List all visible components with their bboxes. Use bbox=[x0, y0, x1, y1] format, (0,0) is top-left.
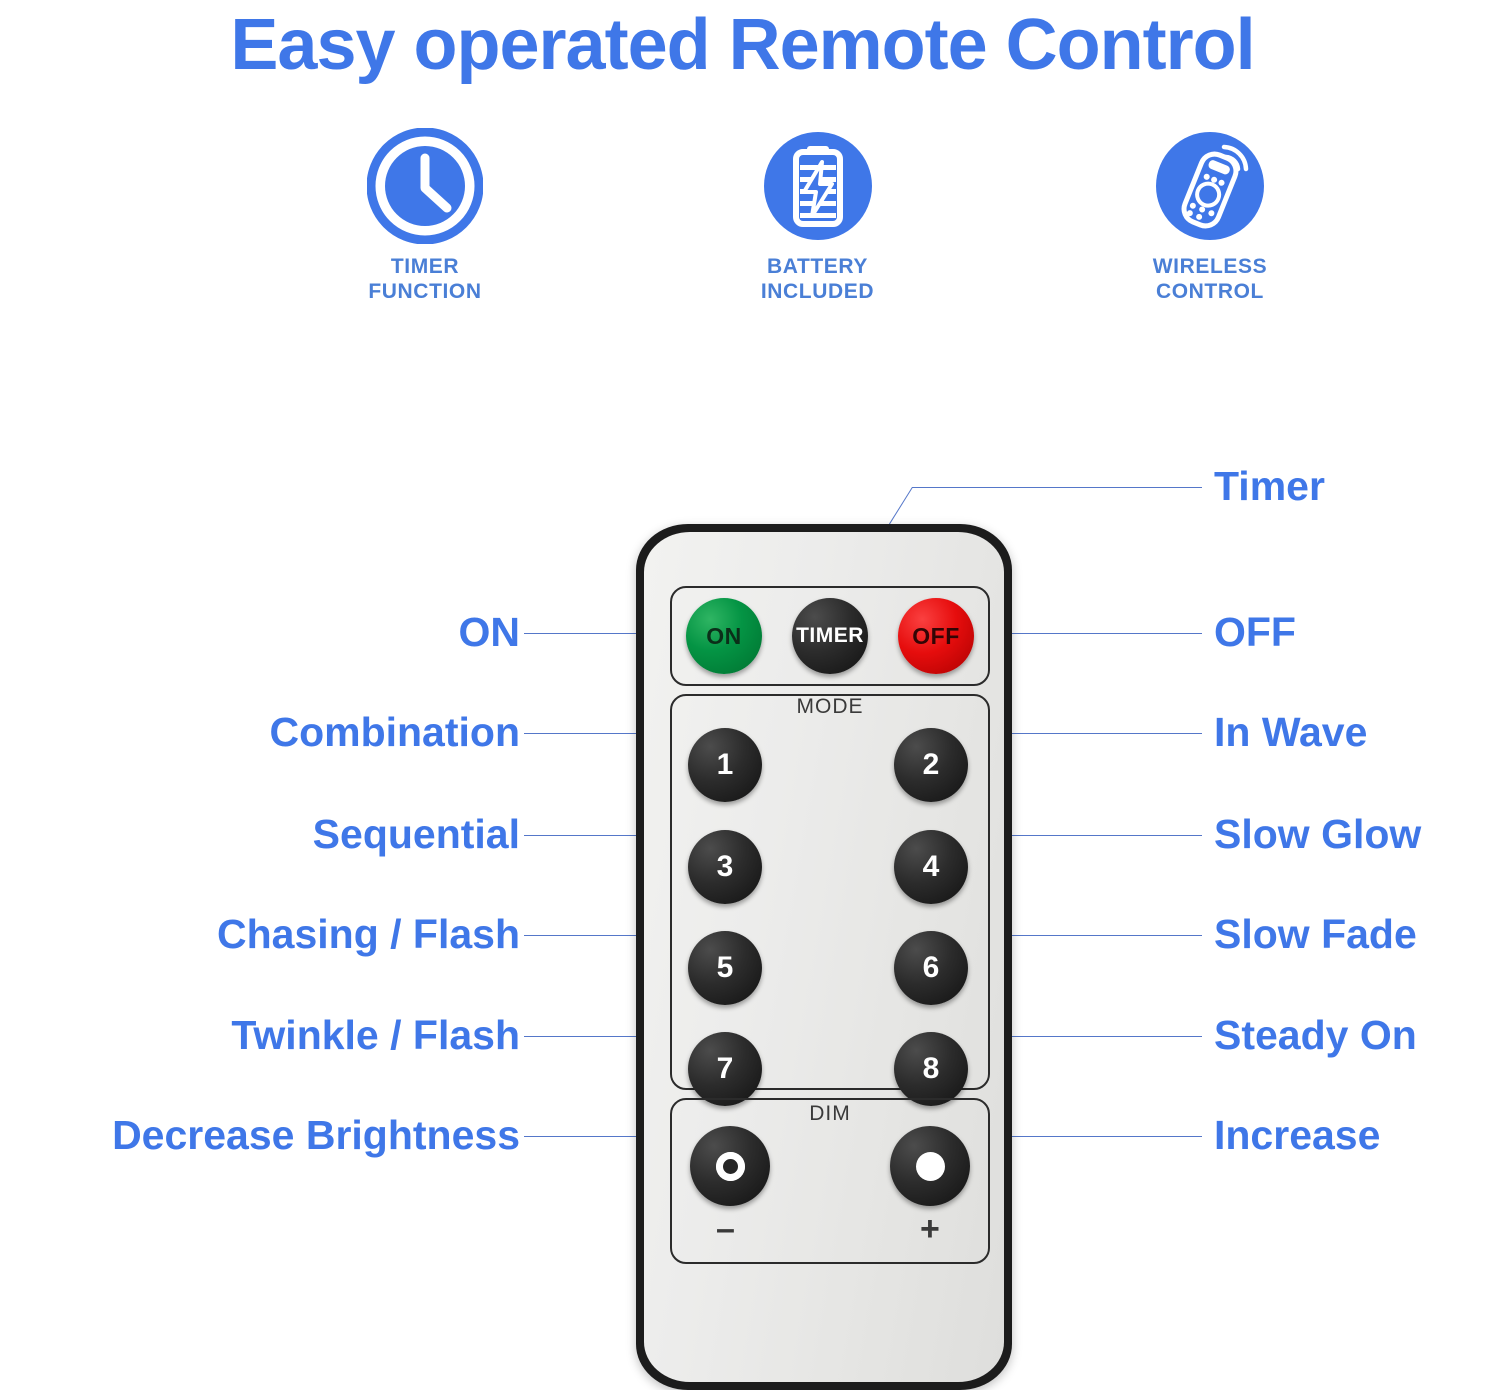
dim-up-button[interactable] bbox=[890, 1126, 970, 1206]
page-title: Easy operated Remote Control bbox=[0, 2, 1485, 88]
callout-steady-on: Steady On bbox=[1214, 1011, 1417, 1059]
mode-button-1[interactable]: 1 bbox=[688, 728, 762, 802]
callout-slow-glow: Slow Glow bbox=[1214, 810, 1421, 858]
mode-panel-label: MODE bbox=[672, 695, 988, 719]
mode-panel: MODE 1 2 3 4 5 6 7 8 bbox=[670, 694, 990, 1090]
power-panel: TIMER ON OFF bbox=[670, 586, 990, 686]
infographic-canvas: Easy operated Remote Control TIMER FUNCT… bbox=[0, 0, 1485, 1388]
dim-down-button[interactable] bbox=[690, 1126, 770, 1206]
remote-signal-icon bbox=[1152, 128, 1268, 244]
dim-panel: DIM – bbox=[670, 1098, 990, 1264]
mode-button-6[interactable]: 6 bbox=[894, 931, 968, 1005]
feature-timer-function: TIMER FUNCTION bbox=[300, 128, 550, 304]
feature-label: WIRELESS CONTROL bbox=[1153, 254, 1267, 304]
leader-line-timer bbox=[912, 487, 1202, 488]
callout-slow-fade: Slow Fade bbox=[1214, 910, 1417, 958]
on-button[interactable]: ON bbox=[686, 598, 762, 674]
callout-off: OFF bbox=[1214, 608, 1296, 656]
minus-sign: – bbox=[716, 1212, 735, 1246]
feature-label-line2: INCLUDED bbox=[761, 280, 874, 303]
mode-button-5[interactable]: 5 bbox=[688, 931, 762, 1005]
callout-combination: Combination bbox=[24, 708, 520, 756]
feature-label-line2: FUNCTION bbox=[368, 280, 481, 303]
callout-sequential: Sequential bbox=[24, 810, 520, 858]
mode-button-4[interactable]: 4 bbox=[894, 830, 968, 904]
mode-button-8[interactable]: 8 bbox=[894, 1032, 968, 1106]
feature-wireless-control: WIRELESS CONTROL bbox=[1085, 128, 1335, 304]
remote-control-device: TIMER ON OFF MODE 1 2 3 4 5 6 7 8 DIM bbox=[636, 524, 1012, 1390]
brightness-down-icon bbox=[704, 1140, 756, 1192]
callout-in-wave: In Wave bbox=[1214, 708, 1367, 756]
clock-icon bbox=[367, 128, 483, 244]
timer-button[interactable]: TIMER bbox=[792, 598, 868, 674]
callout-decrease-brightness: Decrease Brightness bbox=[6, 1111, 520, 1159]
feature-label: TIMER FUNCTION bbox=[368, 254, 481, 304]
battery-icon bbox=[760, 128, 876, 244]
callout-on: ON bbox=[24, 608, 520, 656]
feature-battery-included: BATTERY INCLUDED bbox=[693, 128, 943, 304]
mode-button-7[interactable]: 7 bbox=[688, 1032, 762, 1106]
mode-button-2[interactable]: 2 bbox=[894, 728, 968, 802]
feature-label-line1: TIMER bbox=[391, 255, 459, 278]
plus-sign: + bbox=[920, 1212, 940, 1246]
feature-label: BATTERY INCLUDED bbox=[761, 254, 874, 304]
feature-label-line2: CONTROL bbox=[1156, 280, 1264, 303]
feature-label-line1: WIRELESS bbox=[1153, 255, 1267, 278]
dim-panel-label: DIM bbox=[672, 1102, 988, 1126]
off-button[interactable]: OFF bbox=[898, 598, 974, 674]
remote-face: TIMER ON OFF MODE 1 2 3 4 5 6 7 8 DIM bbox=[644, 532, 1004, 1382]
feature-label-line1: BATTERY bbox=[767, 255, 868, 278]
callout-increase: Increase bbox=[1214, 1111, 1380, 1159]
callout-timer: Timer bbox=[1214, 462, 1325, 510]
mode-button-3[interactable]: 3 bbox=[688, 830, 762, 904]
callout-chasing-flash: Chasing / Flash bbox=[24, 910, 520, 958]
feature-badge-row: TIMER FUNCTION BATTERY bbox=[300, 128, 1335, 318]
callout-twinkle-flash: Twinkle / Flash bbox=[24, 1011, 520, 1059]
brightness-up-icon bbox=[904, 1140, 956, 1192]
